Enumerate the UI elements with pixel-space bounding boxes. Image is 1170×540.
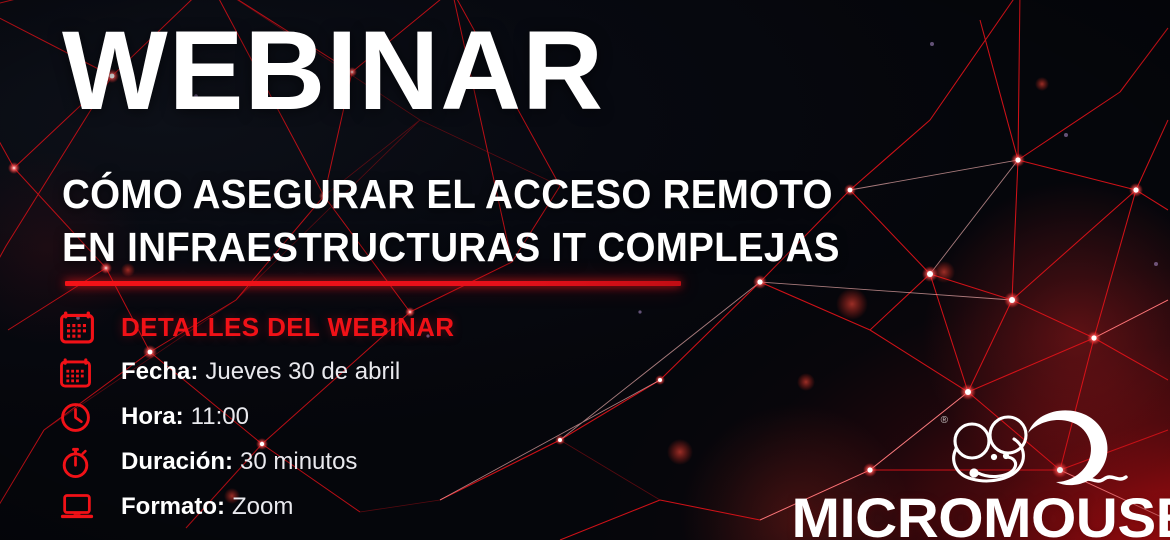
detail-label: Fecha: — [121, 358, 198, 385]
calendar-icon — [60, 307, 104, 347]
red-divider — [65, 281, 681, 286]
subtitle-line-2: EN INFRAESTRUCTURAS IT COMPLEJAS — [62, 221, 840, 274]
webinar-details-list: DETALLES DEL WEBINAR — [60, 305, 454, 529]
detail-text: Duración:30 minutos — [121, 448, 357, 476]
calendar-icon — [60, 352, 104, 392]
detail-row-hora: Hora:11:00 — [60, 395, 454, 439]
banner-content: WEBINAR CÓMO ASEGURAR EL ACCESO REMOTO E… — [0, 0, 1170, 540]
detail-value: Zoom — [232, 493, 293, 520]
detail-value: 30 minutos — [240, 448, 357, 475]
laptop-icon — [60, 487, 104, 527]
detail-row-fecha: Fecha:Jueves 30 de abril — [60, 350, 454, 394]
detail-value: Jueves 30 de abril — [205, 358, 400, 385]
detail-label: Formato: — [121, 493, 225, 520]
details-heading-label: DETALLES DEL WEBINAR — [121, 312, 454, 343]
details-heading-row: DETALLES DEL WEBINAR — [60, 305, 454, 349]
logo-wordmark: MICROMOUSE — [792, 485, 1170, 540]
detail-row-duracion: Duración:30 minutos — [60, 440, 454, 484]
subtitle-line-1: CÓMO ASEGURAR EL ACCESO REMOTO — [62, 168, 840, 221]
detail-text: Fecha:Jueves 30 de abril — [121, 358, 400, 386]
detail-text: Hora:11:00 — [121, 403, 249, 431]
detail-label: Hora: — [121, 403, 184, 430]
detail-value: 11:00 — [191, 403, 249, 430]
detail-label: Duración: — [121, 448, 233, 475]
webinar-banner: WEBINAR CÓMO ASEGURAR EL ACCESO REMOTO E… — [0, 0, 1170, 540]
page-title: WEBINAR — [62, 18, 604, 123]
page-subtitle: CÓMO ASEGURAR EL ACCESO REMOTO EN INFRAE… — [62, 168, 840, 275]
micromouse-logo[interactable]: ® MICROMOUSE — [814, 404, 1170, 540]
detail-row-formato: Formato:Zoom — [60, 485, 454, 529]
trademark-symbol: ® — [941, 415, 948, 426]
clock-icon — [60, 397, 104, 437]
stopwatch-icon — [60, 442, 104, 482]
detail-text: Formato:Zoom — [121, 493, 293, 521]
